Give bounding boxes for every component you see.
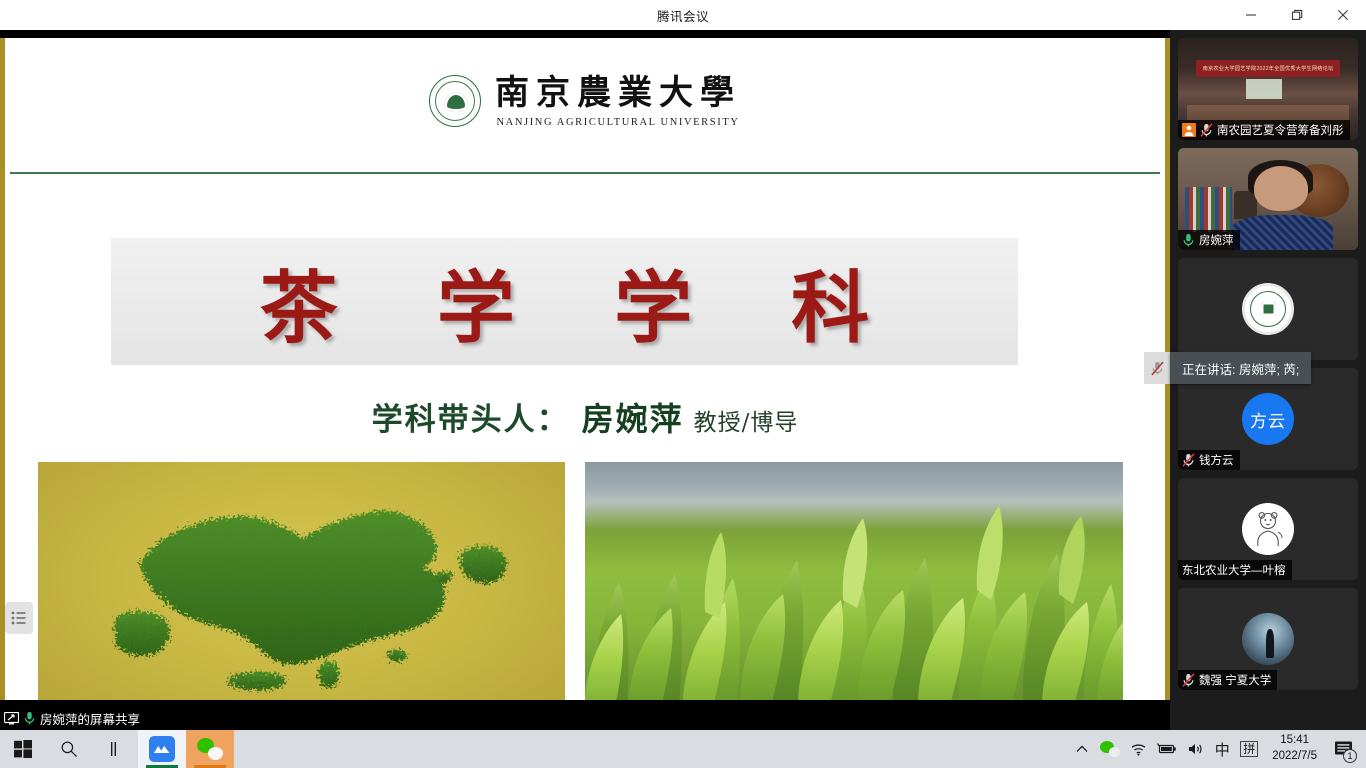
slide-subtitle: 学科带头人：房婉萍教授/博导	[0, 394, 1170, 440]
screen-share-icon	[4, 712, 19, 725]
clock-time: 15:41	[1280, 733, 1309, 749]
speaking-indicator: 正在讲话: 房婉萍; 芮;	[1144, 352, 1311, 384]
notification-center-button[interactable]: 1	[1326, 730, 1362, 768]
ime-pinyin-label: 拼	[1240, 741, 1258, 757]
cartoon-bear-icon	[1245, 506, 1291, 552]
notification-badge: 1	[1343, 749, 1357, 763]
windows-logo-icon	[14, 740, 32, 758]
participant-name: 魏强 宁夏大学	[1199, 672, 1271, 688]
person-body	[1232, 215, 1333, 250]
taskbar: 中 拼 15:41 2022/7/5 1	[0, 730, 1366, 768]
subtitle-name: 房婉萍	[582, 400, 684, 438]
tencent-meeting-icon	[149, 736, 175, 762]
avatar-badge-icon	[1182, 123, 1196, 137]
hall-screen	[1246, 79, 1282, 99]
search-icon	[60, 740, 78, 758]
participant-tile[interactable]: 魏强 宁夏大学	[1178, 588, 1358, 690]
participant-name-chip: 房婉萍	[1178, 230, 1240, 250]
taskbar-app-wechat[interactable]	[186, 730, 234, 768]
participant-name: 房婉萍	[1199, 232, 1234, 248]
participant-video	[1178, 258, 1358, 360]
tray-volume-icon[interactable]	[1182, 730, 1209, 768]
search-button[interactable]	[46, 730, 92, 768]
tray-battery-icon[interactable]	[1152, 730, 1182, 768]
volume-icon	[1187, 742, 1204, 756]
photo-tea-leaf-map	[38, 462, 565, 700]
minimize-icon[interactable]	[1228, 0, 1274, 30]
participant-name-chip: 钱方云	[1178, 450, 1240, 470]
battery-icon	[1157, 743, 1177, 755]
restore-icon[interactable]	[1274, 0, 1320, 30]
avatar	[1242, 503, 1294, 555]
photo-tea-plants	[585, 462, 1123, 700]
start-button[interactable]	[0, 730, 46, 768]
person-silhouette	[1266, 629, 1274, 658]
university-name-cn: 南京農業大學	[495, 74, 741, 113]
desktop-root: 腾讯会议 南京農業大學	[0, 0, 1366, 768]
speaking-mic-icon	[1144, 352, 1170, 384]
window-controls	[1228, 0, 1366, 30]
chevron-up-icon	[1076, 744, 1088, 754]
task-view-button[interactable]	[92, 730, 138, 768]
microphone-muted-icon	[1182, 453, 1195, 467]
participant-name: 钱方云	[1199, 452, 1234, 468]
tray-network-icon[interactable]	[1125, 730, 1152, 768]
microphone-muted-icon	[1200, 123, 1213, 137]
subtitle-rank: 教授/博导	[694, 410, 799, 436]
slide-title: 茶 学 学 科	[224, 246, 905, 358]
close-icon[interactable]	[1320, 0, 1366, 30]
participant-name-chip: 南农园艺夏令营筹备刘彤	[1178, 120, 1350, 140]
tea-leaves-illustration	[585, 462, 1123, 700]
bookshelf	[1185, 187, 1232, 232]
university-name-en: NANJING AGRICULTURAL UNIVERSITY	[495, 117, 741, 128]
task-view-icon	[108, 741, 122, 757]
participant-name: 东北农业大学—叶榕	[1182, 562, 1286, 578]
ime-pinyin-indicator[interactable]: 拼	[1235, 730, 1263, 768]
university-seal-icon	[1250, 291, 1286, 327]
university-name-block: 南京農業大學 NANJING AGRICULTURAL UNIVERSITY	[495, 74, 741, 127]
participant-name-chip: 魏强 宁夏大学	[1178, 670, 1277, 690]
ime-mode-indicator[interactable]: 中	[1209, 730, 1235, 768]
tray-wechat-icon[interactable]	[1095, 730, 1125, 768]
taskbar-app-tencent-meeting[interactable]	[138, 730, 186, 768]
share-frame-top	[0, 30, 1170, 38]
screen-share-label: 房婉萍的屏幕共享	[40, 709, 140, 728]
hall-banner-text: 南京农业大学园艺学院2022年全国优秀大学生网络论坛	[1196, 60, 1340, 76]
microphone-on-icon	[1182, 233, 1195, 247]
speaking-text: 正在讲话: 房婉萍; 芮;	[1170, 352, 1311, 384]
wifi-icon	[1130, 742, 1147, 756]
participant-name-chip: 东北农业大学—叶榕	[1178, 560, 1292, 580]
presentation-slide: 南京農業大學 NANJING AGRICULTURAL UNIVERSITY 茶…	[0, 38, 1170, 700]
slide-title-band: 茶 学 学 科	[111, 238, 1018, 365]
microphone-on-icon	[24, 711, 35, 725]
avatar-initials: 方云	[1250, 407, 1286, 432]
silhouette-photo	[1242, 613, 1294, 665]
participant-tile[interactable]: 东北农业大学—叶榕	[1178, 478, 1358, 580]
participant-name: 南农园艺夏令营筹备刘彤	[1217, 122, 1344, 138]
participant-tile[interactable]	[1178, 258, 1358, 360]
subtitle-label: 学科带头人：	[372, 402, 570, 438]
share-frame-left	[0, 38, 5, 700]
list-icon	[11, 611, 27, 625]
window-title: 腾讯会议	[657, 6, 709, 25]
university-seal-icon	[429, 75, 481, 127]
wechat-icon	[197, 738, 223, 760]
clock-date: 2022/7/5	[1272, 749, 1317, 765]
system-tray: 中 拼 15:41 2022/7/5 1	[1069, 730, 1366, 768]
avatar	[1242, 613, 1294, 665]
person-face	[1254, 166, 1308, 211]
slide-list-button[interactable]	[5, 602, 33, 634]
china-map-shape-icon	[80, 483, 523, 693]
tray-overflow-button[interactable]	[1069, 730, 1095, 768]
screen-share-indicator: 房婉萍的屏幕共享	[0, 706, 196, 730]
participant-tile[interactable]: 南京农业大学园艺学院2022年全国优秀大学生网络论坛 南农园艺夏令营筹备刘彤	[1178, 38, 1358, 140]
window-titlebar: 腾讯会议	[0, 0, 1366, 30]
clock[interactable]: 15:41 2022/7/5	[1263, 730, 1326, 768]
microphone-muted-icon	[1182, 673, 1195, 687]
avatar: 方云	[1242, 393, 1294, 445]
participant-tile[interactable]: 房婉萍	[1178, 148, 1358, 250]
slide-header: 南京農業大學 NANJING AGRICULTURAL UNIVERSITY	[0, 60, 1170, 142]
avatar	[1242, 283, 1294, 335]
shared-screen-stage: 南京農業大學 NANJING AGRICULTURAL UNIVERSITY 茶…	[0, 30, 1170, 708]
header-divider	[10, 172, 1160, 174]
hall-banner: 南京农业大学园艺学院2022年全国优秀大学生网络论坛	[1196, 60, 1340, 76]
